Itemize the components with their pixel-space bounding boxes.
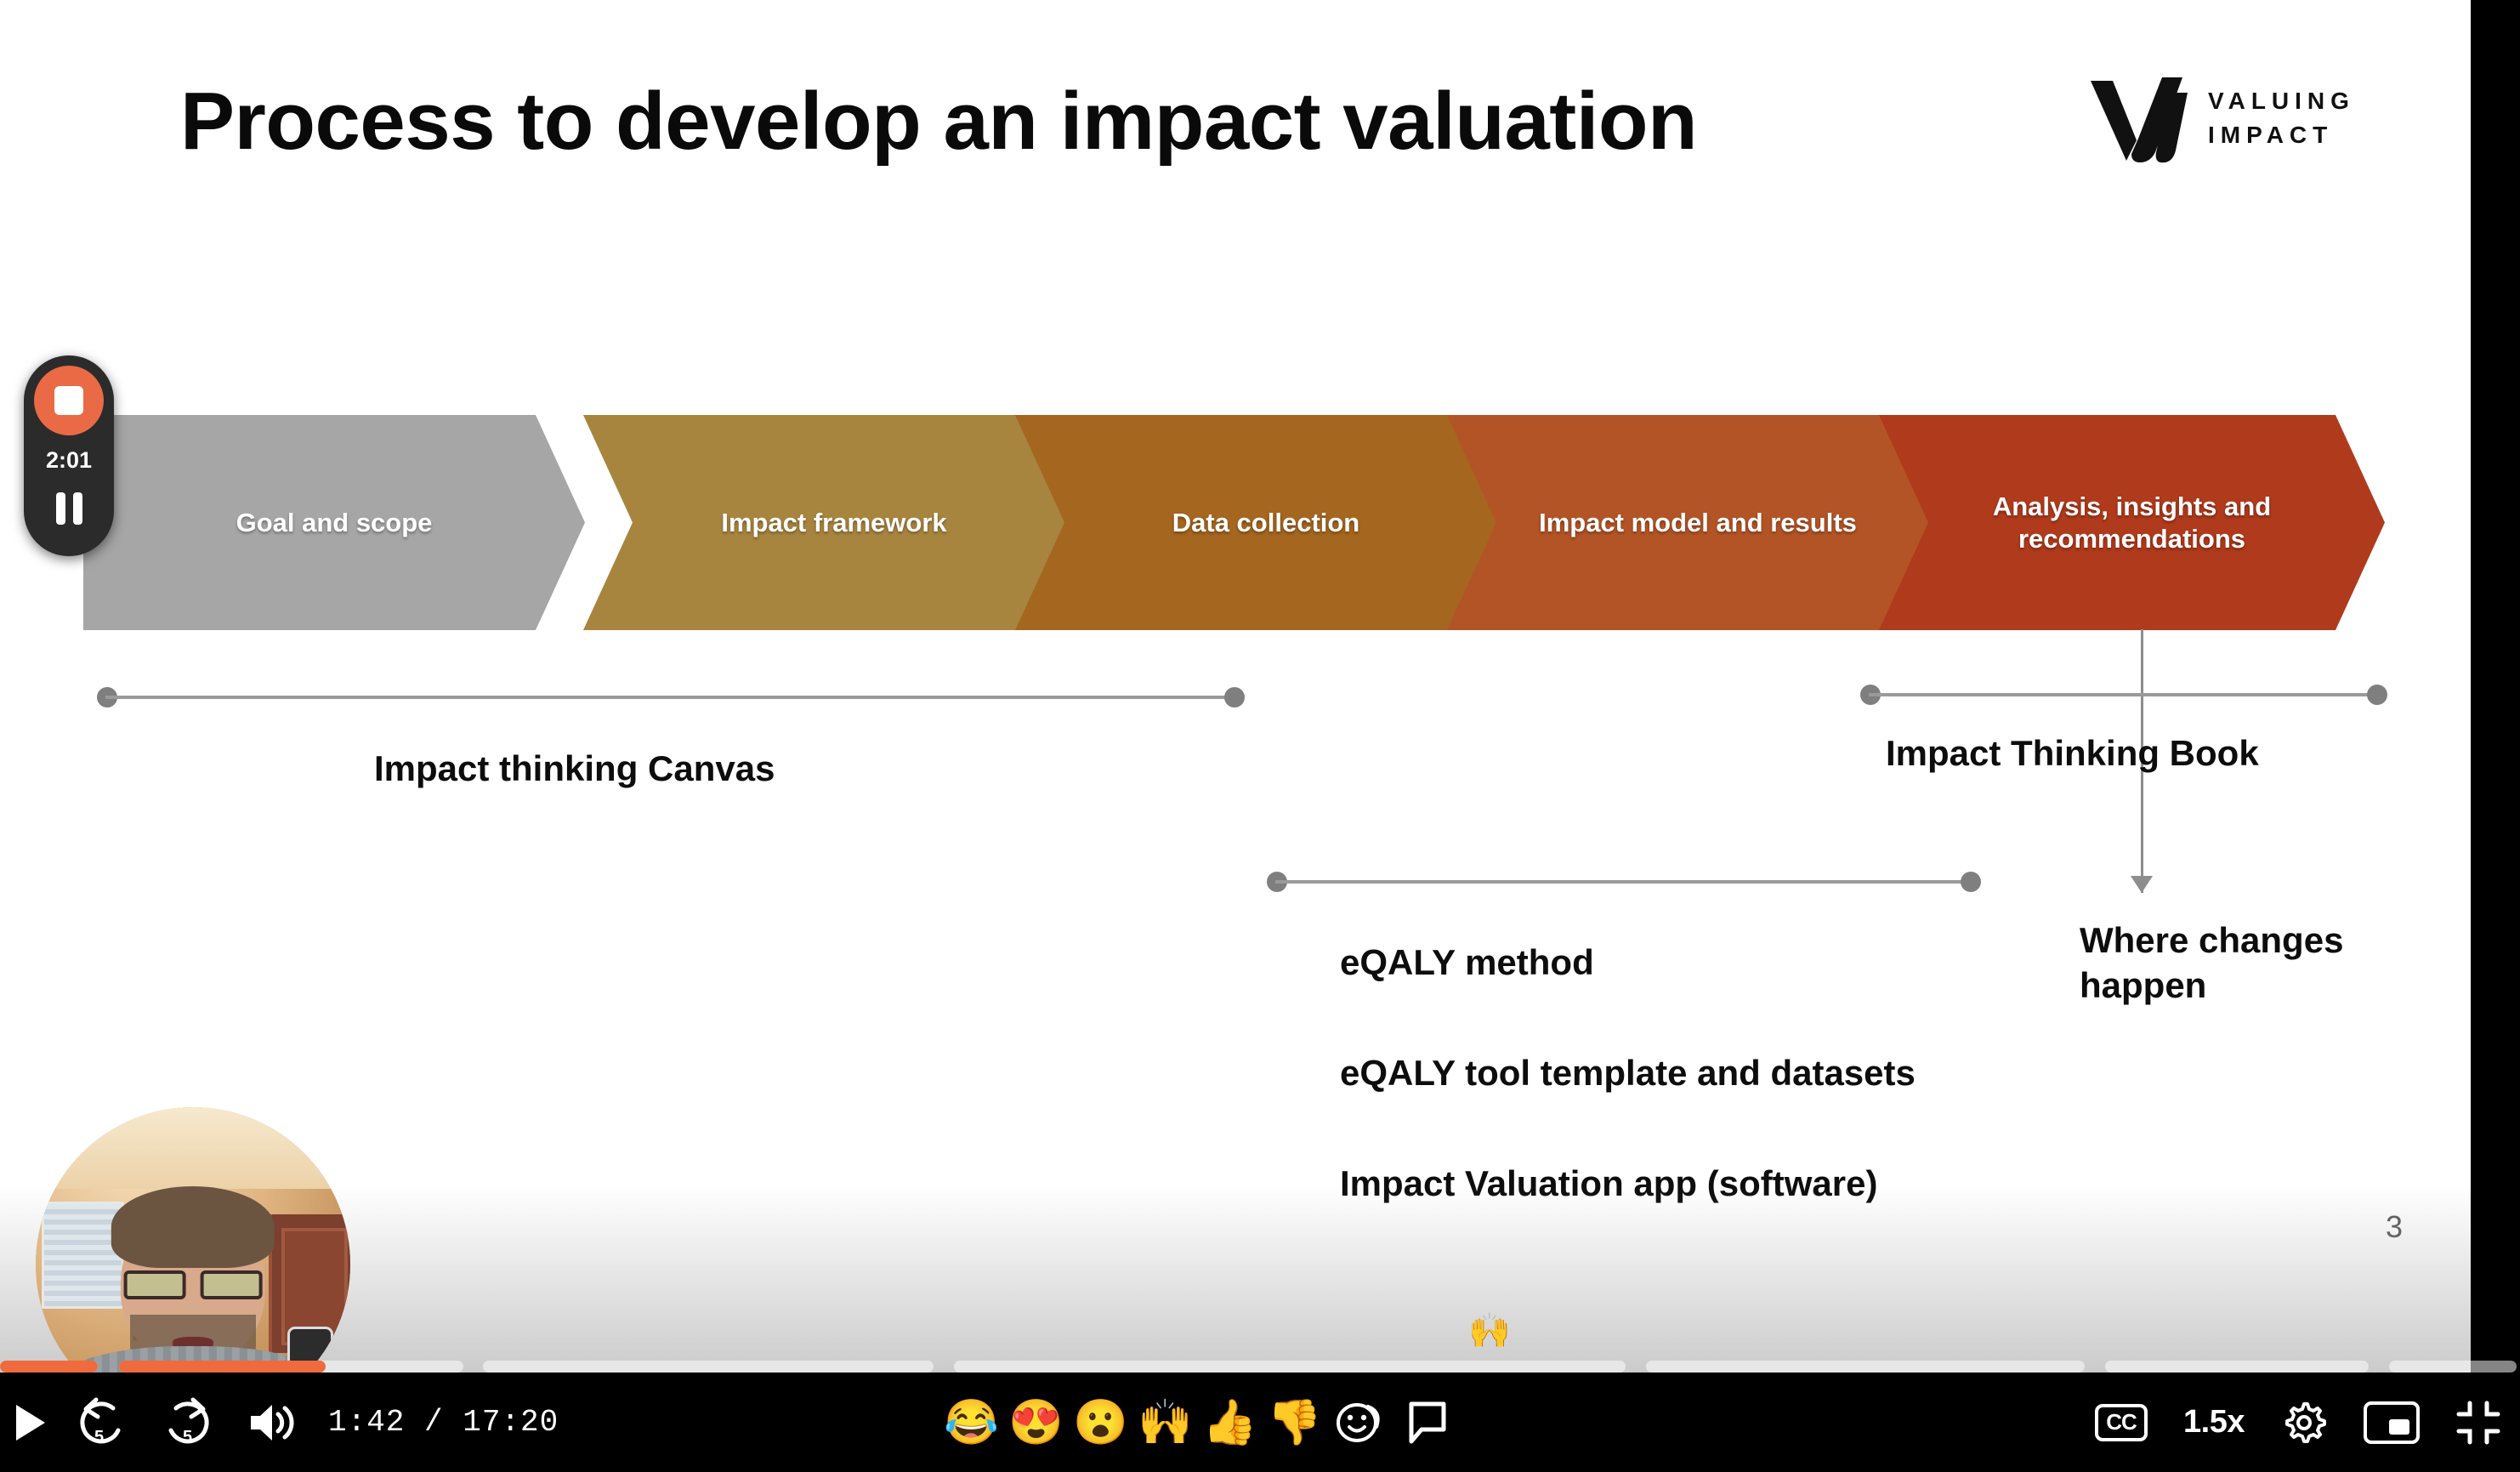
process-step-3: Data collection	[1015, 415, 1517, 630]
pause-bar-icon	[56, 492, 65, 525]
process-step-2-label: Impact framework	[721, 507, 946, 539]
bracket-dot-right	[1961, 872, 1981, 892]
add-reaction-icon[interactable]	[1331, 1401, 1388, 1444]
stop-square-icon	[54, 386, 83, 415]
floating-reaction-emoji: 🙌	[1468, 1314, 1511, 1348]
arrow-head-where-changes-happen	[2131, 876, 2153, 893]
reaction-joy-button[interactable]: 😂	[944, 1401, 996, 1445]
annotation-impact-valuation-app: Impact Valuation app (software)	[1340, 1163, 1877, 1204]
right-letterbox	[2471, 0, 2520, 1373]
chapter-segment[interactable]	[119, 1361, 463, 1373]
webcam-ceiling	[36, 1107, 350, 1189]
playback-speed-button[interactable]: 1.5x	[2183, 1404, 2245, 1441]
annotation-eqaly-method: eQALY method	[1340, 942, 1594, 983]
annotation-where-changes-happen: Where changes happen	[2080, 918, 2420, 1008]
chapter-segment[interactable]	[1646, 1361, 2085, 1373]
webcam-presenter-glasses	[124, 1270, 263, 1299]
bracket-dot-right	[1224, 687, 1245, 708]
recording-elapsed-time: 2:01	[46, 447, 92, 474]
reaction-thumbs-up-button[interactable]: 👍	[1202, 1401, 1255, 1445]
process-step-5-label: Analysis, insights and recommendations	[1903, 491, 2361, 555]
brand-logo: VALUING IMPACT	[2087, 72, 2355, 164]
reaction-raised-hands-button[interactable]: 🙌	[1138, 1401, 1190, 1445]
annotation-impact-thinking-book: Impact Thinking Book	[1886, 733, 2259, 774]
process-chevron-flow: Goal and scope Impact framework Data col…	[83, 415, 2385, 630]
stop-recording-button[interactable]	[34, 366, 104, 435]
pause-bar-icon	[73, 492, 82, 525]
slide-canvas: Process to develop an impact valuation V…	[0, 0, 2471, 1373]
reaction-thumbs-down-button[interactable]: 👎	[1267, 1401, 1320, 1445]
bracket-impact-thinking-book	[1860, 685, 2387, 705]
chapter-segment[interactable]	[0, 1361, 98, 1373]
webcam-presenter-hair	[111, 1186, 275, 1268]
picture-in-picture-button[interactable]	[2364, 1401, 2420, 1444]
annotation-impact-thinking-canvas: Impact thinking Canvas	[374, 748, 775, 789]
slide-bottom-shade	[0, 1185, 2471, 1373]
reaction-surprised-button[interactable]: 😮	[1073, 1401, 1126, 1445]
volume-button[interactable]	[230, 1373, 315, 1472]
chapter-segment[interactable]	[483, 1361, 934, 1373]
reaction-heart-eyes-button[interactable]: 😍	[1008, 1401, 1061, 1445]
logo-text-line-2: IMPACT	[2208, 123, 2355, 147]
rewind-5-seconds-button[interactable]: 5	[60, 1373, 145, 1472]
svg-text:5: 5	[183, 1428, 192, 1446]
valuing-impact-v-mark-icon	[2087, 72, 2188, 164]
bracket-bar	[1275, 880, 1972, 884]
annotation-eqaly-tool-template: eQALY tool template and datasets	[1340, 1053, 1916, 1094]
connector-line-step5	[2141, 629, 2143, 808]
time-display: 1:42 / 17:20	[328, 1405, 559, 1440]
total-duration: 17:20	[463, 1405, 559, 1440]
slide-page-number: 3	[2386, 1209, 2403, 1245]
exit-fullscreen-icon[interactable]	[2455, 1400, 2501, 1446]
bracket-impact-thinking-canvas	[97, 687, 1245, 708]
bracket-dot-right	[2367, 685, 2387, 705]
chapter-segment[interactable]	[2389, 1361, 2517, 1373]
process-step-1-label: Goal and scope	[236, 507, 433, 539]
reaction-bar: 😂 😍 😮 🙌 👍 👎	[944, 1401, 1456, 1445]
bracket-eqaly	[1267, 872, 1981, 892]
bracket-bar	[105, 696, 1236, 699]
video-player-stage: Process to develop an impact valuation V…	[0, 0, 2520, 1472]
process-step-2: Impact framework	[583, 415, 1085, 630]
play-button[interactable]	[0, 1373, 60, 1472]
recording-widget[interactable]: 2:01	[24, 355, 114, 556]
process-step-3-label: Data collection	[1172, 507, 1360, 539]
logo-text-line-1: VALUING	[2208, 89, 2355, 113]
webcam-window-blind	[42, 1202, 123, 1309]
gear-icon[interactable]	[2280, 1399, 2328, 1446]
closed-captions-button[interactable]: CC	[2095, 1404, 2148, 1441]
forward-5-seconds-button[interactable]: 5	[145, 1373, 230, 1472]
time-separator: /	[424, 1405, 444, 1440]
pause-recording-button[interactable]	[56, 492, 82, 525]
player-control-bar: 5 5 1:42 / 17:20	[0, 1373, 2520, 1472]
chapter-progress-bar[interactable]	[0, 1361, 2520, 1373]
process-step-5: Analysis, insights and recommendations	[1879, 415, 2385, 630]
chapter-segment[interactable]	[954, 1361, 1626, 1373]
process-step-1: Goal and scope	[83, 415, 585, 630]
svg-text:5: 5	[94, 1428, 104, 1446]
chapter-segment[interactable]	[2105, 1361, 2369, 1373]
comment-icon[interactable]	[1399, 1401, 1456, 1445]
process-step-4-label: Impact model and results	[1539, 507, 1857, 539]
process-step-4: Impact model and results	[1447, 415, 1949, 630]
current-time: 1:42	[328, 1405, 405, 1440]
page-title: Process to develop an impact valuation	[180, 75, 1697, 168]
bracket-bar	[1869, 693, 2379, 696]
